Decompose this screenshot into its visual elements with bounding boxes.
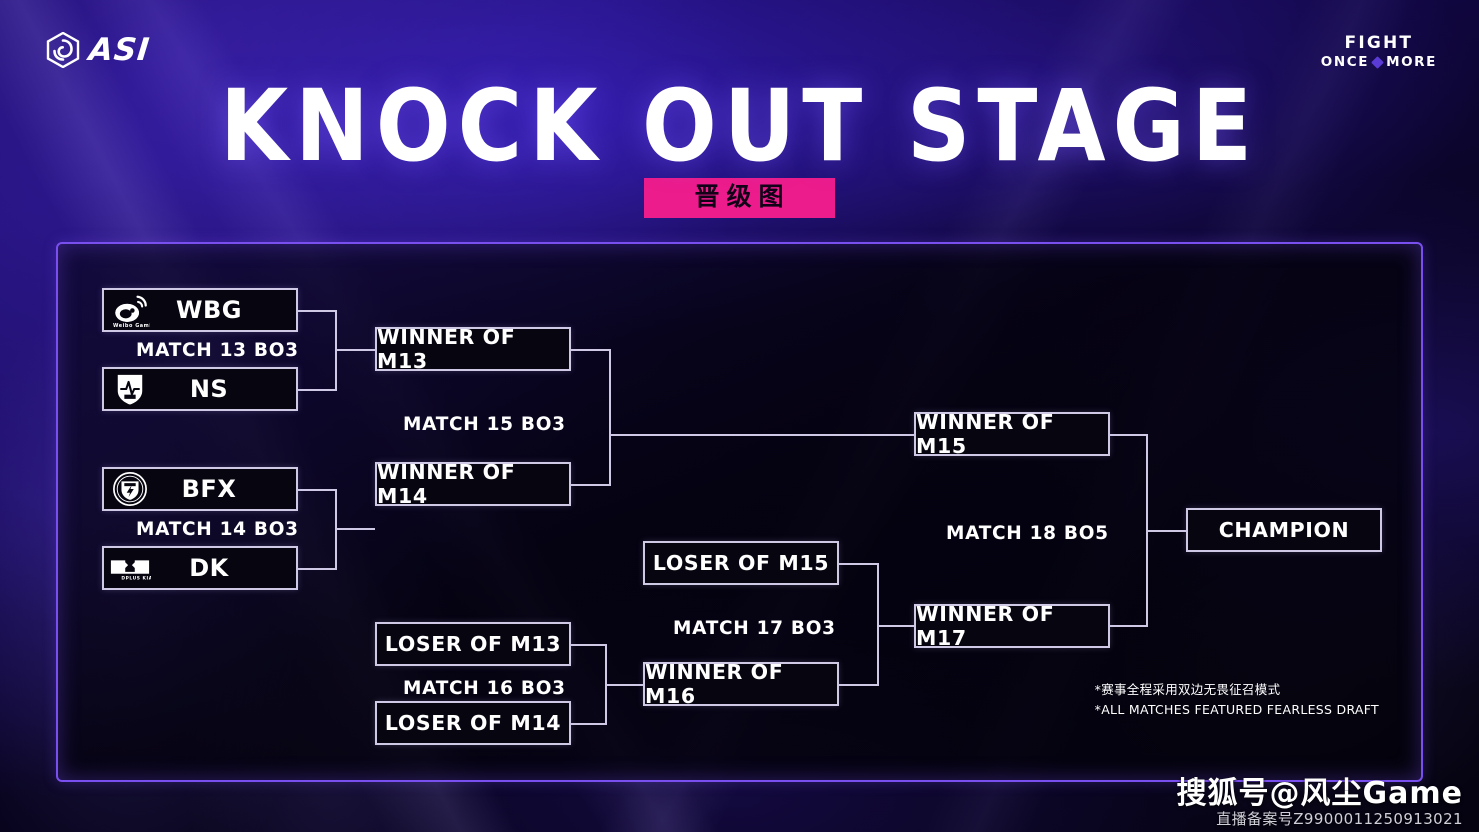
- slot-label-winner-m15: WINNER OF M15: [916, 410, 1108, 458]
- footnotes: *赛事全程采用双边无畏征召模式 *ALL MATCHES FEATURED FE…: [1095, 680, 1379, 720]
- connector-lm13-right: [571, 644, 607, 646]
- dk-bar-logo-icon: DPLUS KIA: [104, 548, 156, 588]
- team-node-bfx[interactable]: BFX: [102, 467, 298, 511]
- slot-label-champion: CHAMPION: [1219, 518, 1350, 542]
- match-label-m14: MATCH 14 BO3: [136, 519, 299, 540]
- connector-m16-out: [605, 684, 643, 686]
- connector-bfx-right: [297, 489, 337, 491]
- asi-brand-logo: ASI: [46, 32, 150, 68]
- fight-word: FIGHT: [1321, 34, 1437, 53]
- slot-champion[interactable]: CHAMPION: [1186, 508, 1382, 552]
- team-name-dk: DK: [156, 554, 296, 582]
- match-label-m15: MATCH 15 BO3: [403, 414, 566, 435]
- connector-ns-right: [297, 389, 337, 391]
- match-label-m17: MATCH 17 BO3: [673, 618, 836, 639]
- bracket-panel: Weibo Gaming WBG MATCH 13 BO3 NS: [56, 242, 1423, 782]
- team-name-ns: NS: [156, 375, 296, 403]
- once-more-line: ONCE MORE: [1321, 54, 1437, 71]
- slot-loser-m15[interactable]: LOSER OF M15: [643, 541, 839, 585]
- connector-lm14-right: [571, 723, 607, 725]
- asi-swirl-hex-icon: [46, 32, 80, 68]
- svg-text:DPLUS KIA: DPLUS KIA: [121, 575, 151, 581]
- connector-wm13-right: [571, 349, 611, 351]
- connector-dk-right: [297, 568, 337, 570]
- slot-label-loser-m15: LOSER OF M15: [653, 551, 829, 575]
- connector-wbg-right: [297, 310, 337, 312]
- slot-loser-m13[interactable]: LOSER OF M13: [375, 622, 571, 666]
- page-title: KNOCK OUT STAGE: [0, 78, 1479, 175]
- connector-m13-out: [335, 349, 375, 351]
- connector-m17-out: [877, 625, 914, 627]
- slot-winner-m17[interactable]: WINNER OF M17: [914, 604, 1110, 648]
- ns-shield-pulse-logo-icon: [104, 369, 156, 409]
- slot-label-winner-m13: WINNER OF M13: [377, 325, 569, 373]
- asi-wordmark: ASI: [87, 32, 152, 68]
- watermark-license: 直播备案号Z9900011250913021: [1177, 810, 1463, 828]
- slot-label-winner-m17: WINNER OF M17: [916, 602, 1108, 650]
- more-word: MORE: [1386, 54, 1437, 71]
- subtitle-badge: 晋级图: [644, 178, 834, 218]
- fight-once-more-logo: FIGHT ONCE MORE: [1321, 34, 1437, 71]
- team-node-dk[interactable]: DPLUS KIA DK: [102, 546, 298, 590]
- connector-wm15-right: [1110, 434, 1148, 436]
- connector-wm17-right: [1110, 625, 1148, 627]
- slot-label-winner-m16: WINNER OF M16: [645, 660, 837, 708]
- slot-label-loser-m13: LOSER OF M13: [385, 632, 561, 656]
- connector-m14-out: [335, 528, 375, 530]
- slot-label-winner-m14: WINNER OF M14: [377, 460, 569, 508]
- team-name-bfx: BFX: [156, 475, 296, 503]
- svg-text:Weibo Gaming: Weibo Gaming: [113, 323, 150, 328]
- match-label-m18: MATCH 18 BO5: [946, 523, 1109, 544]
- connector-m15-out: [609, 434, 914, 436]
- footnote-en: *ALL MATCHES FEATURED FEARLESS DRAFT: [1095, 700, 1379, 720]
- slot-winner-m14[interactable]: WINNER OF M14: [375, 462, 571, 506]
- bracket-diagram: Weibo Gaming WBG MATCH 13 BO3 NS: [58, 244, 1421, 780]
- connector-m15-vertical: [609, 349, 611, 486]
- watermark-handle: 搜狐号@风尘Game: [1177, 778, 1463, 810]
- team-name-wbg: WBG: [156, 296, 296, 324]
- watermark: 搜狐号@风尘Game 直播备案号Z9900011250913021: [1177, 778, 1463, 829]
- connector-wm14-right: [571, 484, 611, 486]
- once-word: ONCE: [1321, 54, 1369, 71]
- team-node-wbg[interactable]: Weibo Gaming WBG: [102, 288, 298, 332]
- footnote-cn: *赛事全程采用双边无畏征召模式: [1095, 680, 1379, 700]
- connector-wm16-right: [839, 684, 879, 686]
- team-node-ns[interactable]: NS: [102, 367, 298, 411]
- weibo-gaming-logo-icon: Weibo Gaming: [104, 290, 156, 330]
- title-block: KNOCK OUT STAGE 晋级图: [0, 78, 1479, 218]
- connector-champion-in: [1146, 530, 1186, 532]
- slot-label-loser-m14: LOSER OF M14: [385, 711, 561, 735]
- match-label-m13: MATCH 13 BO3: [136, 340, 299, 361]
- connector-lm15-right: [839, 563, 879, 565]
- slot-winner-m15[interactable]: WINNER OF M15: [914, 412, 1110, 456]
- bfx-circular-crest-logo-icon: [104, 469, 156, 509]
- diamond-icon: [1371, 56, 1384, 69]
- match-label-m16: MATCH 16 BO3: [403, 678, 566, 699]
- slot-loser-m14[interactable]: LOSER OF M14: [375, 701, 571, 745]
- slot-winner-m16[interactable]: WINNER OF M16: [643, 662, 839, 706]
- slot-winner-m13[interactable]: WINNER OF M13: [375, 327, 571, 371]
